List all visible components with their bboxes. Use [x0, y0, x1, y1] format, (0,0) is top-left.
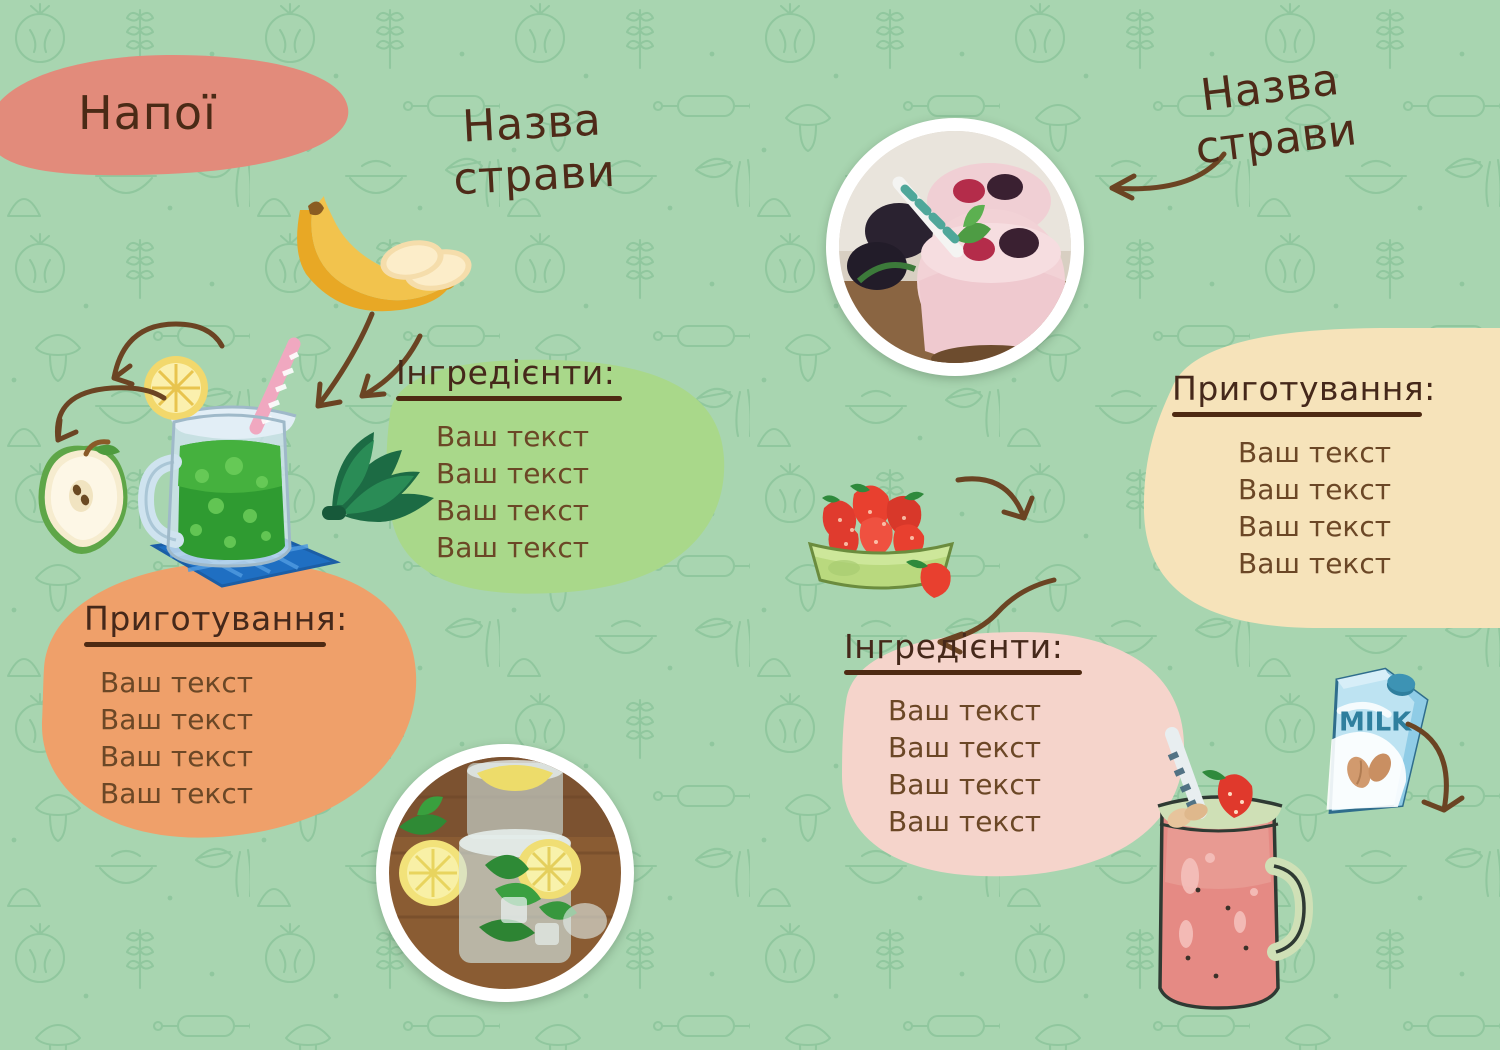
illo-banana — [278, 196, 488, 316]
preparation-rule-right — [1172, 412, 1422, 417]
ingredients-line-right-2: Ваш текст — [888, 730, 1144, 767]
preparation-heading-left: Приготування: — [84, 602, 404, 637]
ingredients-line-left-1: Ваш текст — [436, 419, 696, 456]
arrow-strawberries-to-preparation — [952, 470, 1062, 540]
illo-apple-half — [34, 438, 134, 556]
ingredients-line-left-4: Ваш текст — [436, 530, 696, 567]
ingredients-line-right-4: Ваш текст — [888, 804, 1144, 841]
arrow-milk-to-smoothie — [1394, 718, 1484, 828]
preparation-line-left-4: Ваш текст — [100, 776, 404, 813]
photo-berry-smoothie — [826, 118, 1084, 376]
preparation-lines-right: Ваш текст Ваш текст Ваш текст Ваш текст — [1172, 435, 1500, 583]
ingredients-lines-left: Ваш текст Ваш текст Ваш текст Ваш текст — [396, 419, 696, 567]
dish-title-left: Назва страви — [449, 94, 616, 206]
preparation-line-left-2: Ваш текст — [100, 702, 404, 739]
ingredients-line-left-3: Ваш текст — [436, 493, 696, 530]
ingredients-line-right-1: Ваш текст — [888, 693, 1144, 730]
ingredients-rule-right — [844, 670, 1082, 675]
preparation-line-right-3: Ваш текст — [1238, 509, 1500, 546]
ingredients-line-right-3: Ваш текст — [888, 767, 1144, 804]
dish-title-right: Назва страви — [1186, 53, 1360, 176]
preparation-line-left-3: Ваш текст — [100, 739, 404, 776]
ingredients-heading-right: Інгредієнти: — [844, 630, 1144, 665]
preparation-line-right-2: Ваш текст — [1238, 472, 1500, 509]
preparation-line-right-1: Ваш текст — [1238, 435, 1500, 472]
dish-title-left-line1: Назва — [449, 94, 614, 154]
preparation-lines-left: Ваш текст Ваш текст Ваш текст Ваш текст — [84, 665, 404, 813]
page-title: Напої — [78, 86, 217, 140]
recipe-page: Напої Назва страви Назва страви Інгредіє… — [0, 0, 1500, 1050]
ingredients-rule-left — [396, 396, 622, 401]
ingredients-line-left-2: Ваш текст — [436, 456, 696, 493]
preparation-line-left-1: Ваш текст — [100, 665, 404, 702]
preparation-block-right: Приготування: Ваш текст Ваш текст Ваш те… — [1172, 372, 1500, 582]
illo-pink-smoothie — [1128, 726, 1308, 1022]
photo-lemon-mint-water — [376, 744, 634, 1002]
arrow-to-apple — [48, 378, 178, 448]
arrow-to-green-jar-top — [108, 316, 228, 386]
preparation-line-right-4: Ваш текст — [1238, 546, 1500, 583]
photo-lemon-mint-water-image — [389, 757, 621, 989]
ingredients-lines-right: Ваш текст Ваш текст Ваш текст Ваш текст — [844, 693, 1144, 841]
ingredients-block-right: Інгредієнти: Ваш текст Ваш текст Ваш тек… — [844, 630, 1144, 840]
photo-berry-smoothie-image — [839, 131, 1071, 363]
preparation-block-left: Приготування: Ваш текст Ваш текст Ваш те… — [84, 602, 404, 812]
preparation-heading-right: Приготування: — [1172, 372, 1500, 407]
dish-title-left-line2: страви — [452, 146, 617, 206]
ingredients-heading-left: Інгредієнти: — [396, 356, 696, 391]
ingredients-block-left: Інгредієнти: Ваш текст Ваш текст Ваш тек… — [396, 356, 696, 566]
preparation-rule-left — [84, 642, 326, 647]
